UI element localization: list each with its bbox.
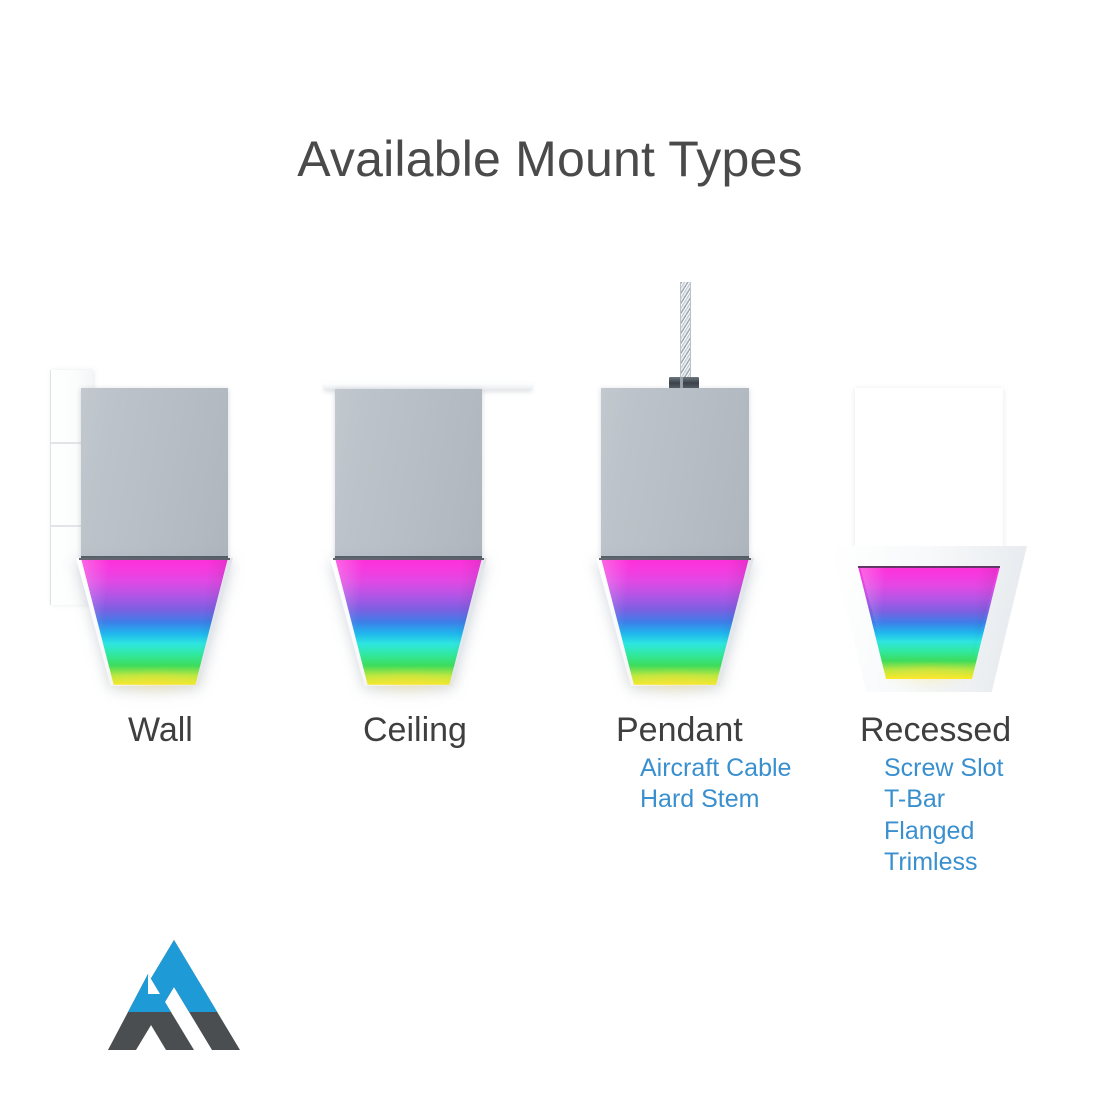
aperture-glow [104,674,205,696]
aperture-top-edge [858,566,1000,568]
label-group-wall: Wall [128,712,348,749]
aperture-top-edge [333,558,484,560]
rgb-gradient-lens [330,558,487,686]
aperture-glow [882,667,977,689]
mount-label-ceiling: Ceiling [363,712,583,749]
mount-label-wall: Wall [128,712,348,749]
pendant-option-aircraft-cable[interactable]: Aircraft Cable [640,753,856,785]
mount-figure-wall[interactable] [45,370,275,730]
mount-label-pendant: Pendant [616,712,856,749]
aperture-top-edge [79,558,230,560]
brand-logo[interactable] [108,932,240,1054]
rgb-gradient-lens [855,566,1003,679]
fixture-body-pendant [601,388,749,558]
aperture-glow [358,674,459,696]
aircraft-cable [680,282,691,380]
recessed-option-trimless[interactable]: Trimless [884,847,1100,879]
light-aperture-wall [76,558,233,686]
recessed-option-list: Screw Slot T-Bar Flanged Trimless [860,753,1100,879]
recessed-option-flanged[interactable]: Flanged [884,816,1100,848]
label-group-ceiling: Ceiling [363,712,583,749]
page-title: Available Mount Types [0,132,1100,187]
pendant-option-hard-stem[interactable]: Hard Stem [640,784,856,816]
mount-figure-pendant[interactable] [570,280,800,730]
label-group-recessed: Recessed Screw Slot T-Bar Flanged Trimle… [860,712,1100,879]
light-aperture-ceiling [330,558,487,686]
rgb-gradient-lens [76,558,233,686]
fixture-body-wall [81,388,228,558]
fixture-body-recessed [855,388,1003,551]
aperture-top-edge [599,558,751,560]
pendant-option-list: Aircraft Cable Hard Stem [616,753,856,816]
mount-figure-ceiling[interactable] [305,370,535,730]
rgb-gradient-lens [596,558,754,686]
light-aperture-recessed [855,566,1003,679]
mount-label-recessed: Recessed [860,712,1100,749]
recessed-option-t-bar[interactable]: T-Bar [884,784,1100,816]
mount-figure-recessed[interactable] [825,370,1055,730]
fixture-body-ceiling [335,389,482,558]
aperture-glow [624,674,725,696]
recessed-option-screw-slot[interactable]: Screw Slot [884,753,1100,785]
label-group-pendant: Pendant Aircraft Cable Hard Stem [616,712,856,816]
light-aperture-pendant [596,558,754,686]
